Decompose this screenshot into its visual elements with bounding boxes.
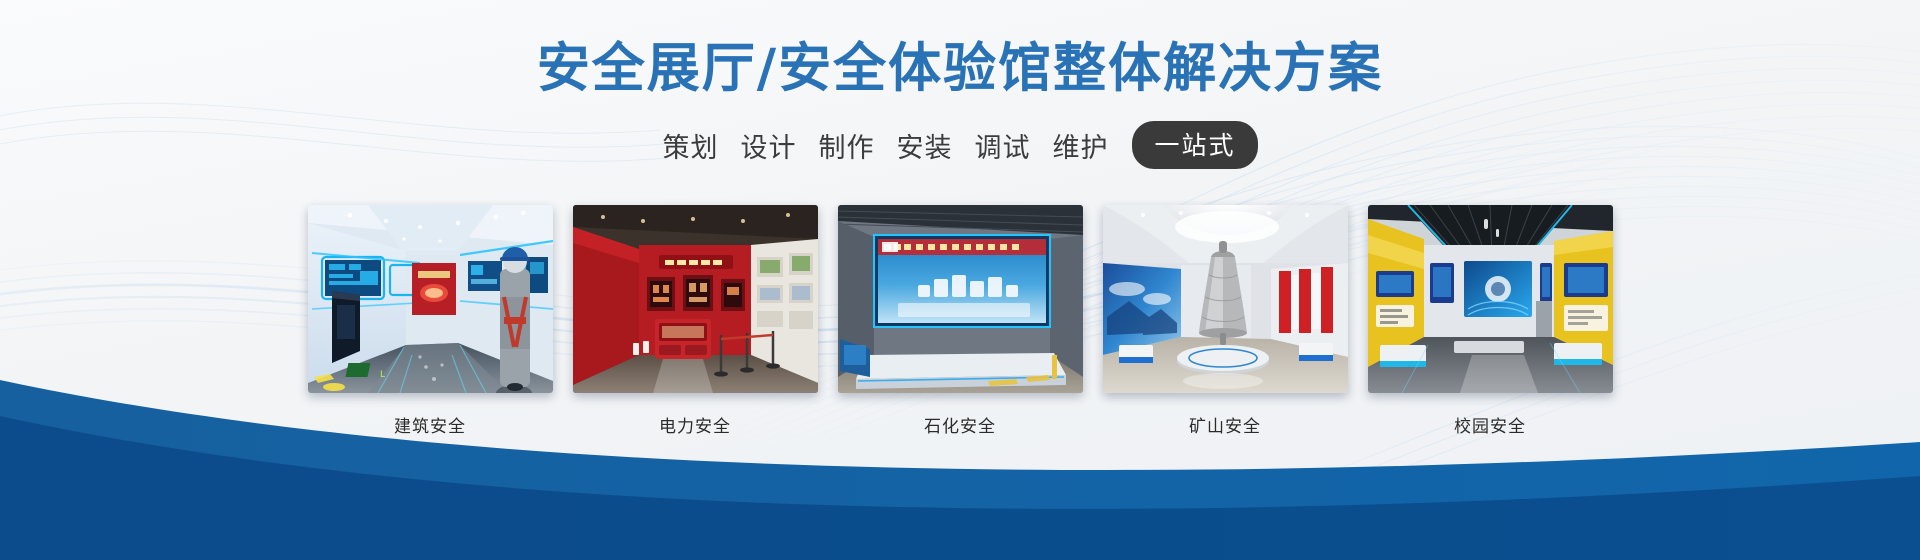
service-step: 调试	[974, 126, 1030, 165]
bottom-blue-bands	[0, 320, 1920, 560]
service-steps-row: 策划 设计 制作 安装 调试 维护 一站式	[0, 121, 1920, 169]
service-step: 安装	[896, 126, 952, 165]
promo-banner: 安全展厅/安全体验馆整体解决方案 策划 设计 制作 安装 调试 维护 一站式	[0, 0, 1920, 560]
page-title: 安全展厅/安全体验馆整体解决方案	[0, 26, 1920, 102]
service-step: 维护	[1052, 126, 1108, 165]
service-step: 策划	[662, 126, 718, 165]
service-step: 制作	[818, 126, 874, 165]
service-step: 设计	[740, 126, 796, 165]
one-stop-badge: 一站式	[1132, 121, 1257, 169]
